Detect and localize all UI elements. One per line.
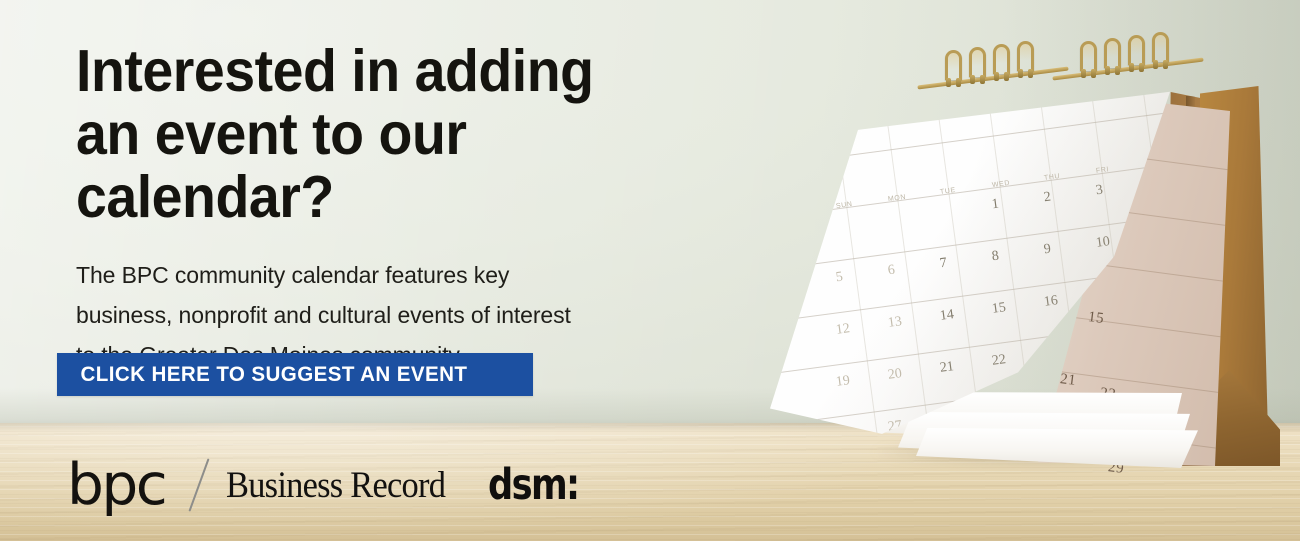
calendar-spiral-ring (945, 50, 962, 80)
suggest-an-event-button[interactable]: CLICK HERE TO SUGGEST AN EVENT (57, 353, 533, 396)
calendar-spiral-ring (969, 47, 986, 77)
logo-lockup: bpc Business Record dsm: (68, 452, 598, 518)
suggest-an-event-button-label: CLICK HERE TO SUGGEST AN EVENT (57, 363, 467, 387)
calendar-spiral-ring (1128, 35, 1145, 65)
calendar-spiral-ring (1104, 38, 1121, 68)
calendar-date-cell: 23 (1043, 345, 1059, 363)
page-title: Interested in adding an event to our cal… (76, 40, 715, 229)
calendar-spiral-ring (1152, 32, 1169, 62)
bpc-logo[interactable]: bpc (67, 457, 165, 514)
calendar-rear-date-cell: 15 (1087, 309, 1105, 328)
calendar-spiral-ring (1080, 41, 1097, 71)
calendar-spiral-ring (1017, 41, 1034, 71)
calendar-spiral-ring (993, 44, 1010, 74)
calendar-rear-date-cell: 21 (1059, 371, 1077, 390)
promotional-banner: 815212226272829 SUNMONTUEWEDTHUFRISAT123… (0, 0, 1300, 541)
copy-column: Interested in adding an event to our cal… (76, 40, 756, 375)
desk-calendar-photo: 815212226272829 SUNMONTUEWEDTHUFRISAT123… (770, 40, 1300, 510)
logo-divider-slash (189, 458, 210, 511)
business-record-logo[interactable]: Business Record (226, 467, 445, 504)
dsm-logo[interactable]: dsm: (488, 464, 579, 507)
